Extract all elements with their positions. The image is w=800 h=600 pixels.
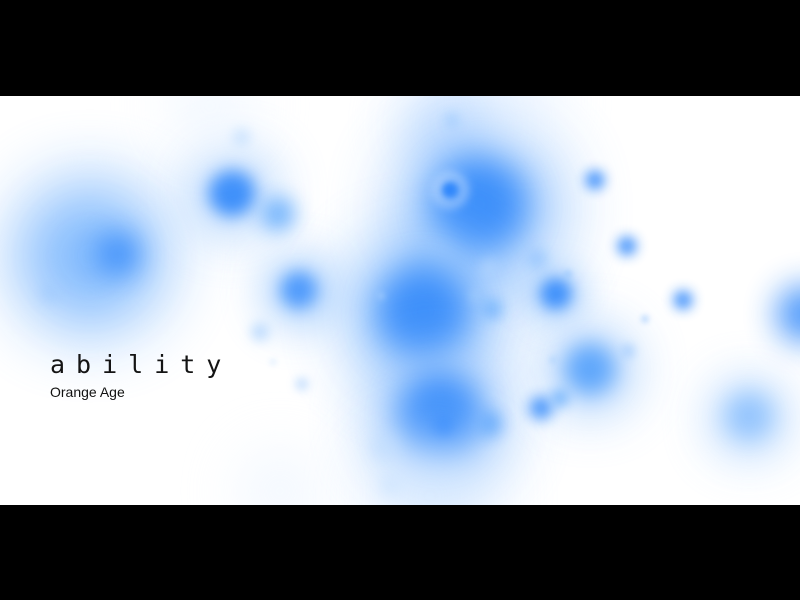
blob-right-dot-e: [564, 270, 572, 278]
blob-center-big-halo: [397, 127, 561, 291]
blob-text-dot-a: [251, 323, 269, 341]
blob-lower-center-dot: [433, 416, 453, 436]
blob-main-sat-b: [470, 289, 484, 303]
blob-upper-left-core: [208, 169, 256, 217]
blob-bottom-fade-b: [236, 447, 324, 505]
blob-lower-right-dot: [476, 411, 502, 437]
blob-main-core: [377, 266, 469, 358]
blob-upper-left-glow: [188, 149, 276, 237]
blob-right-dot-a: [585, 170, 605, 190]
blob-center-ring: [433, 173, 467, 207]
title-block: ability Orange Age: [50, 350, 232, 401]
blob-top-fade-b: [480, 96, 560, 141]
blob-faredge-core: [726, 393, 772, 439]
blob-rightlow-halo: [544, 324, 636, 416]
page-subtitle: Orange Age: [50, 383, 232, 401]
blob-mid-solo: [263, 255, 335, 327]
blob-text-dot-c: [270, 359, 276, 365]
blob-right-small-a: [528, 266, 584, 322]
blob-main-sat-c: [482, 299, 502, 319]
blob-lower-left-pale: [372, 436, 396, 460]
blob-upper-mid-small: [260, 196, 296, 232]
blob-center-right-dot: [527, 249, 547, 269]
blob-main-sat-d: [377, 292, 385, 300]
blob-topcenter-faint: [400, 96, 504, 178]
blob-left-small-pale: [41, 284, 59, 302]
blob-center-left-pale: [410, 244, 454, 288]
blob-lower-center-core: [398, 372, 482, 456]
blob-upper-tiny-pale: [232, 128, 250, 146]
scene-stage: ability Orange Age: [0, 0, 800, 600]
blob-center-big-core: [431, 156, 527, 252]
blob-lower-center-halo: [372, 353, 508, 489]
letterbox-bar-top: [0, 0, 800, 96]
blob-rightlow-pair-a: [529, 396, 553, 420]
blob-main-halo: [347, 237, 499, 389]
blob-rightlow-core: [564, 343, 616, 395]
blob-text-dot-b: [296, 378, 308, 390]
blob-left-core: [95, 231, 141, 277]
blob-faredge-bright: [775, 284, 800, 344]
bokeh-canvas: ability Orange Age: [0, 96, 800, 505]
blob-left-large-pale: [12, 178, 168, 334]
blob-top-fade-a: [166, 96, 254, 150]
page-title: ability: [50, 350, 232, 380]
blob-right-dot-c: [673, 290, 693, 310]
blob-rightlow-dot-b: [549, 356, 557, 364]
blob-right-dot-b: [617, 236, 637, 256]
blob-right-small-core: [540, 278, 572, 310]
blob-faredge-pale: [709, 378, 789, 458]
blob-center-ring-core: [443, 183, 457, 197]
blob-rightlow-pair-b: [551, 389, 569, 407]
blob-topcenter-dot: [444, 112, 460, 128]
blob-main-sat-a: [481, 260, 497, 276]
blob-bottom-fade-a: [370, 436, 490, 505]
blob-rightlow-dot-a: [621, 344, 635, 358]
blob-right-dot-d: [641, 315, 649, 323]
letterbox-bar-bottom: [0, 505, 800, 600]
blob-lower-bottom-dot: [381, 475, 401, 495]
blob-mid-solo-core: [280, 271, 318, 309]
